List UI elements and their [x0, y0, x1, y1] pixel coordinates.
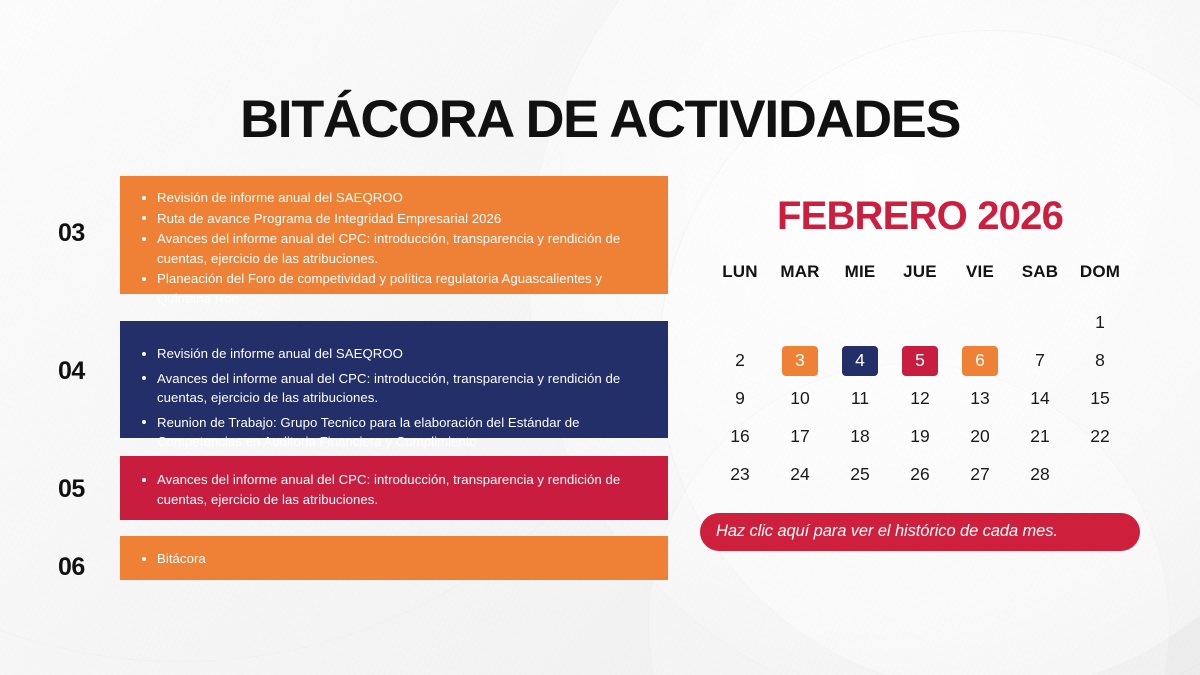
activity-bullet-text: Bitácora — [157, 551, 206, 566]
activity-bullet-item: Planeación del Foro de competividad y po… — [136, 269, 650, 308]
activity-bullet-list: Revisión de informe anual del SAEQROOAva… — [136, 344, 650, 452]
calendar-empty-cell: . — [950, 304, 1010, 342]
bullet-dot-icon — [142, 277, 146, 281]
calendar-day-cell[interactable]: 28 — [1010, 456, 1070, 494]
activity-bullet-item: Avances del informe anual del CPC: intro… — [136, 369, 650, 408]
calendar-panel: FEBRERO 2026 LUNMARMIEJUEVIESABDOM......… — [690, 196, 1150, 551]
bullet-dot-icon — [142, 196, 146, 200]
calendar-day-cell[interactable]: 11 — [830, 380, 890, 418]
activity-bullet-item: Avances del informe anual del CPC: intro… — [136, 470, 650, 509]
activity-row-number: 06 — [58, 553, 85, 582]
calendar-day-cell[interactable]: 21 — [1010, 418, 1070, 456]
activity-row-box: Revisión de informe anual del SAEQROOAva… — [120, 321, 668, 438]
calendar-empty-cell: . — [830, 304, 890, 342]
activity-bullet-item: Ruta de avance Programa de Integridad Em… — [136, 209, 650, 229]
calendar-day-number: 15 — [1082, 390, 1118, 408]
calendar-day-number: 20 — [962, 428, 998, 446]
calendar-day-number: 24 — [782, 466, 818, 484]
activity-row-box: Avances del informe anual del CPC: intro… — [120, 456, 668, 520]
calendar-weekday-header: MAR — [770, 262, 830, 304]
activity-bullet-item: Revisión de informe anual del SAEQROO — [136, 188, 650, 208]
calendar-day-number: 12 — [902, 390, 938, 408]
calendar-day-cell[interactable]: 23 — [710, 456, 770, 494]
calendar-day-number: 25 — [842, 466, 878, 484]
calendar-day-highlighted: 5 — [902, 346, 938, 377]
activity-bullet-text: Avances del informe anual del CPC: intro… — [157, 472, 620, 507]
activity-row-number: 04 — [58, 357, 85, 386]
activity-bullet-list: Avances del informe anual del CPC: intro… — [136, 470, 650, 509]
bullet-dot-icon — [142, 376, 146, 380]
calendar-day-highlighted: 6 — [962, 346, 998, 377]
calendar-day-cell[interactable]: 17 — [770, 418, 830, 456]
calendar-day-number: 16 — [722, 428, 758, 446]
activity-row-number: 03 — [58, 219, 85, 248]
bullet-dot-icon — [142, 478, 146, 482]
slide-canvas: BITÁCORA DE ACTIVIDADES 03Revisión de in… — [0, 0, 1200, 675]
calendar-day-cell[interactable]: 18 — [830, 418, 890, 456]
calendar-day-number: 27 — [962, 466, 998, 484]
activity-bullet-text: Ruta de avance Programa de Integridad Em… — [157, 211, 501, 226]
bullet-dot-icon — [142, 352, 146, 356]
activity-row-number: 05 — [58, 475, 85, 504]
activity-bullet-item: Bitácora — [136, 549, 650, 569]
calendar-day-number: 23 — [722, 466, 758, 484]
calendar-history-cta-button[interactable]: Haz clic aquí para ver el histórico de c… — [700, 513, 1140, 551]
calendar-day-cell[interactable]: 16 — [710, 418, 770, 456]
activity-bullet-text: Reunion de Trabajo: Grupo Tecnico para l… — [157, 415, 580, 450]
calendar-day-cell[interactable]: 13 — [950, 380, 1010, 418]
bullet-dot-icon — [142, 237, 146, 241]
bullet-dot-icon — [142, 557, 146, 561]
calendar-weekday-header: JUE — [890, 262, 950, 304]
calendar-day-number: 10 — [782, 390, 818, 408]
calendar-empty-cell: . — [890, 304, 950, 342]
calendar-day-number: 22 — [1082, 428, 1118, 446]
calendar-day-number: 28 — [1022, 466, 1058, 484]
calendar-weekday-header: VIE — [950, 262, 1010, 304]
calendar-day-number: 26 — [902, 466, 938, 484]
calendar-day-highlighted: 3 — [782, 346, 818, 377]
calendar-day-number: 18 — [842, 428, 878, 446]
calendar-day-cell[interactable]: 26 — [890, 456, 950, 494]
activity-bullet-text: Avances del informe anual del CPC: intro… — [157, 231, 620, 266]
calendar-day-number: 2 — [722, 352, 758, 370]
calendar-day-number: 7 — [1022, 352, 1058, 370]
calendar-day-number: 17 — [782, 428, 818, 446]
calendar-day-cell[interactable]: 14 — [1010, 380, 1070, 418]
calendar-empty-cell: . — [1010, 304, 1070, 342]
calendar-day-cell[interactable]: 15 — [1070, 380, 1130, 418]
calendar-day-cell[interactable]: 24 — [770, 456, 830, 494]
calendar-day-number: 11 — [842, 390, 878, 408]
calendar-day-number: 1 — [1082, 314, 1118, 332]
calendar-empty-cell: . — [770, 304, 830, 342]
page-title: BITÁCORA DE ACTIVIDADES — [0, 93, 1200, 146]
activity-row-box: Bitácora — [120, 536, 668, 580]
calendar-day-cell[interactable]: 1 — [1070, 304, 1130, 342]
calendar-day-cell[interactable]: 2 — [710, 342, 770, 380]
activity-bullet-text: Revisión de informe anual del SAEQROO — [157, 346, 403, 361]
calendar-weekday-header: SAB — [1010, 262, 1070, 304]
activity-bullet-item: Avances del informe anual del CPC: intro… — [136, 229, 650, 268]
calendar-day-cell[interactable]: 6 — [950, 342, 1010, 380]
calendar-day-cell[interactable]: 3 — [770, 342, 830, 380]
activity-bullet-text: Revisión de informe anual del SAEQROO — [157, 190, 403, 205]
calendar-day-cell[interactable]: 12 — [890, 380, 950, 418]
calendar-day-cell[interactable]: 8 — [1070, 342, 1130, 380]
calendar-weekday-header: DOM — [1070, 262, 1130, 304]
activity-bullet-list: Bitácora — [136, 549, 650, 569]
activity-bullet-item: Reunion de Trabajo: Grupo Tecnico para l… — [136, 413, 650, 452]
calendar-day-number: 19 — [902, 428, 938, 446]
calendar-day-cell[interactable]: 9 — [710, 380, 770, 418]
calendar-day-cell[interactable]: 22 — [1070, 418, 1130, 456]
activity-bullet-text: Avances del informe anual del CPC: intro… — [157, 371, 620, 406]
calendar-day-number: 9 — [722, 390, 758, 408]
calendar-day-cell[interactable]: 19 — [890, 418, 950, 456]
calendar-title: FEBRERO 2026 — [690, 196, 1150, 236]
bullet-dot-icon — [142, 216, 146, 220]
calendar-weekday-header: LUN — [710, 262, 770, 304]
activity-bullet-list: Revisión de informe anual del SAEQROORut… — [136, 188, 650, 308]
calendar-day-highlighted: 4 — [842, 346, 878, 377]
calendar-empty-cell: . — [710, 304, 770, 342]
calendar-day-cell[interactable]: 10 — [770, 380, 830, 418]
activity-bullet-text: Planeación del Foro de competividad y po… — [157, 271, 602, 306]
bullet-dot-icon — [142, 420, 146, 424]
calendar-day-number: 14 — [1022, 390, 1058, 408]
calendar-grid: LUNMARMIEJUEVIESABDOM......1234567891011… — [710, 262, 1130, 494]
calendar-day-number: 8 — [1082, 352, 1118, 370]
calendar-day-cell[interactable]: 25 — [830, 456, 890, 494]
calendar-day-cell[interactable]: 20 — [950, 418, 1010, 456]
calendar-day-number: 13 — [962, 390, 998, 408]
calendar-day-cell[interactable]: 27 — [950, 456, 1010, 494]
activity-row-box: Revisión de informe anual del SAEQROORut… — [120, 176, 668, 294]
calendar-day-cell[interactable]: 5 — [890, 342, 950, 380]
calendar-day-cell[interactable]: 4 — [830, 342, 890, 380]
calendar-day-cell[interactable]: 7 — [1010, 342, 1070, 380]
activity-bullet-item: Revisión de informe anual del SAEQROO — [136, 344, 650, 364]
calendar-day-number: 21 — [1022, 428, 1058, 446]
calendar-weekday-header: MIE — [830, 262, 890, 304]
